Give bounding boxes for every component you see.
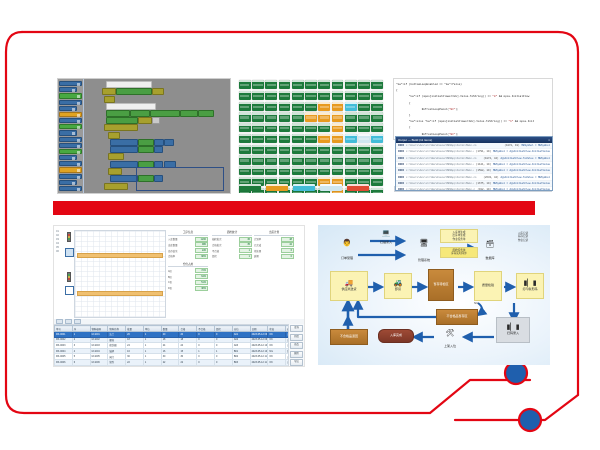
status-light-icon	[67, 272, 71, 282]
grid-cell[interactable]	[371, 112, 383, 121]
flow-node-temp-area: 暂存待检区	[428, 269, 454, 301]
log-message: dgvInitialFlow.ToValue = MESymbol	[500, 157, 550, 160]
grid-cell[interactable]	[292, 166, 304, 175]
stat-row: 合格率98%	[168, 254, 208, 259]
palette-block[interactable]	[59, 106, 77, 111]
stat-label: C区	[168, 280, 194, 284]
stat-group-title: 出货计划	[254, 230, 294, 236]
table-cell[interactable]: 0	[215, 365, 233, 367]
grid-cell[interactable]	[358, 166, 370, 175]
log-tag: INFO	[398, 163, 404, 166]
block[interactable]	[198, 110, 214, 117]
grid-cell[interactable]	[305, 155, 317, 164]
grid-cell[interactable]	[332, 166, 344, 175]
block[interactable]	[130, 110, 150, 117]
grid-cell[interactable]	[279, 91, 291, 100]
block[interactable]	[108, 168, 122, 175]
table-cell[interactable]: 40	[161, 365, 179, 367]
side-action-button[interactable]: 导出	[290, 359, 303, 366]
palette-block[interactable]	[59, 167, 82, 172]
grid-cell[interactable]	[371, 80, 383, 89]
grid-cell[interactable]	[265, 166, 277, 175]
grid-cell[interactable]	[265, 102, 277, 111]
stat-group: 质检统计抽检批次36合格批次35不合格1复检1	[212, 230, 252, 259]
palette-block[interactable]	[59, 87, 77, 92]
block[interactable]	[104, 96, 115, 103]
block[interactable]	[110, 175, 138, 182]
node-icon[interactable]	[65, 286, 74, 295]
data-table-area[interactable]: 单号序物料编码物料名称批量单位数量合格不合格复检仓位日期状态备注 RK-0001…	[54, 319, 304, 366]
legend-swatch	[266, 184, 288, 191]
palette-block[interactable]	[59, 93, 82, 98]
grid-cell[interactable]	[305, 80, 317, 89]
callout-top: 入库单生成 出库单生成 作业任务单	[440, 229, 478, 243]
shelving-icon: 🛠	[446, 330, 455, 338]
table-cell[interactable]: RK-0007	[55, 365, 73, 367]
block[interactable]	[106, 110, 130, 117]
stat-row: 不合格1	[212, 248, 252, 253]
grid-cell[interactable]	[239, 123, 251, 132]
grid-cell[interactable]	[345, 102, 357, 111]
red-divider-banner	[53, 201, 535, 215]
block[interactable]	[110, 146, 138, 153]
blocks-editor-panel[interactable]	[57, 78, 231, 194]
grid-cell[interactable]	[318, 102, 330, 111]
spreadsheet-panel[interactable]: 010203040506 工序信息入库数量1200出库数量980库存结余220合…	[53, 225, 305, 367]
grid-cell[interactable]	[239, 155, 251, 164]
log-tag: INFO	[398, 150, 404, 153]
callout-right: 入库记录 库存记录 作业记录	[508, 231, 538, 243]
decision-label: NG	[474, 301, 479, 305]
stat-label: 延期	[254, 254, 280, 258]
stat-label: 待处理	[254, 249, 280, 253]
grid-cell[interactable]	[265, 80, 277, 89]
stat-row: 复检1	[212, 254, 252, 259]
log-line-number: (1874, 44)	[483, 157, 498, 160]
palette-block[interactable]	[59, 137, 82, 142]
stat-value: 64%	[195, 274, 208, 279]
log-row[interactable]: INFOc:\Users\dev\src\Warehouse\MESApp\Fo…	[396, 187, 552, 191]
code-line: "kw">else "kw">if (mpos[initialFlowerIdx…	[396, 119, 550, 125]
palette-block[interactable]	[59, 130, 77, 135]
flow-node-scan-entry: 💻 扫描录入	[372, 227, 400, 245]
grid-cell[interactable]	[305, 102, 317, 111]
block[interactable]	[150, 110, 180, 117]
stat-group-title: 仓位占用	[168, 262, 208, 268]
table-cell[interactable]: 7	[72, 365, 90, 367]
grid-cell[interactable]	[265, 134, 277, 143]
grid-cell[interactable]	[292, 112, 304, 121]
stat-value: 6	[281, 248, 294, 253]
stat-label: 已完成	[254, 243, 280, 247]
log-path: c:\Users\dev\src\Warehouse\MESApp\Forms\…	[406, 176, 481, 179]
grid-cell[interactable]	[358, 123, 370, 132]
flow-node-shelving: 🛠 上架入位	[434, 323, 466, 349]
legend-swatch	[293, 184, 315, 191]
grid-cell[interactable]	[305, 91, 317, 100]
grid-cell[interactable]	[332, 134, 344, 143]
grid-cell[interactable]	[345, 166, 357, 175]
grid-cell[interactable]	[292, 102, 304, 111]
legend-swatch	[347, 184, 369, 191]
grid-cell[interactable]	[358, 155, 370, 164]
flow-node-print-barcode: ▮▏▮ 打印条形码	[516, 273, 544, 299]
grid-cell[interactable]	[358, 102, 370, 111]
table-cell[interactable]: 0	[197, 365, 215, 367]
stat-column: 出货计划计划单48已完成42待处理6延期0	[254, 230, 294, 262]
flow-node-order: 👨 订单受理	[330, 231, 364, 261]
palette-block[interactable]	[59, 155, 77, 160]
palette-block[interactable]	[59, 149, 82, 154]
palette-block[interactable]	[59, 143, 82, 148]
grid-cell[interactable]	[371, 166, 383, 175]
grid-cell[interactable]	[345, 123, 357, 132]
stat-value: 98%	[195, 254, 208, 259]
flow-node-database: 🗃 数据库	[478, 233, 502, 261]
grid-cell[interactable]	[252, 102, 264, 111]
block[interactable]	[104, 183, 128, 190]
stat-row: 待处理6	[254, 248, 294, 253]
grid-cell[interactable]	[239, 102, 251, 111]
grid-cell[interactable]	[332, 155, 344, 164]
grid-cell[interactable]	[358, 134, 370, 143]
table-cell[interactable]: OK	[268, 365, 286, 367]
stat-row: B区64%	[168, 274, 208, 279]
flow-node-inspection: 质量检验	[474, 271, 502, 301]
stat-label: 合格批次	[212, 243, 238, 247]
grid-cell[interactable]	[265, 155, 277, 164]
palette-block[interactable]	[59, 161, 82, 166]
grid-cell[interactable]	[305, 134, 317, 143]
side-action-button[interactable]: 删除	[290, 351, 303, 358]
cell-grid[interactable]	[239, 80, 383, 193]
stat-group: 仓位占用A区72%B区64%C区51%D区38%	[168, 262, 208, 291]
table-side-buttons[interactable]: 查询新增修改删除导出刷新关闭	[288, 324, 304, 366]
palette-block[interactable]	[59, 112, 82, 117]
stat-row: 延期0	[254, 254, 294, 259]
palette-block[interactable]	[59, 118, 82, 123]
table-row[interactable]: RK-00077M-1007垫片401404000C012023-05-12 1…	[55, 365, 304, 367]
block[interactable]	[180, 110, 198, 117]
flow-node-system: 🖥 管理系统	[408, 229, 440, 263]
grid-cell[interactable]	[252, 91, 264, 100]
grid-cell[interactable]	[345, 155, 357, 164]
stat-value: 36	[239, 237, 252, 242]
grid-cell[interactable]	[252, 145, 264, 154]
side-action-button[interactable]: 修改	[290, 342, 303, 349]
side-action-button[interactable]: 新增	[290, 334, 303, 341]
toolbar-button[interactable]	[65, 319, 72, 325]
grid-cell[interactable]	[318, 123, 330, 132]
grid-cell[interactable]	[279, 123, 291, 132]
block[interactable]	[154, 146, 163, 153]
block[interactable]	[138, 146, 154, 153]
grid-cell[interactable]	[252, 155, 264, 164]
code-and-log-panel[interactable]: "kw">if (bottomLoopEnabled == "kw">false…	[393, 78, 553, 193]
grid-cell[interactable]	[345, 80, 357, 89]
block[interactable]	[106, 81, 152, 88]
grid-cell[interactable]	[265, 112, 277, 121]
grid-cell[interactable]	[371, 145, 383, 154]
flow-node-complete: 入库完成	[378, 329, 414, 343]
status-light-icon	[67, 232, 71, 242]
grid-cell[interactable]	[371, 102, 383, 111]
log-message: MESymbol = dgvInitialFlow.InitialValue	[493, 150, 550, 153]
grid-cell[interactable]	[239, 145, 251, 154]
table-cell[interactable]: 垫片	[108, 365, 126, 367]
grid-cell[interactable]	[292, 155, 304, 164]
stat-group-title: 质检统计	[212, 230, 252, 236]
block[interactable]	[110, 161, 138, 168]
grid-cell[interactable]	[279, 102, 291, 111]
grid-cell[interactable]	[239, 166, 251, 175]
grid-cell[interactable]	[371, 134, 383, 143]
stat-row: 库存结余220	[168, 248, 208, 253]
stat-label: 入库数量	[168, 237, 194, 241]
stat-value: 38%	[195, 286, 208, 291]
table-cell[interactable]: 2023-05-12 13:05	[250, 365, 268, 367]
block[interactable]	[108, 132, 120, 139]
block-selection-outline	[136, 167, 224, 191]
gantt-chart-area[interactable]	[74, 230, 166, 318]
palette-block[interactable]	[59, 81, 82, 86]
palette-block[interactable]	[59, 124, 82, 129]
block[interactable]	[164, 139, 174, 146]
grid-cell[interactable]	[332, 102, 344, 111]
grid-cell[interactable]	[371, 155, 383, 164]
close-icon[interactable]: ×	[548, 137, 550, 143]
stat-label: 出库数量	[168, 243, 194, 247]
block[interactable]	[106, 117, 138, 124]
grid-cell[interactable]	[371, 91, 383, 100]
grid-cell[interactable]	[292, 91, 304, 100]
block[interactable]	[106, 103, 156, 110]
log-tag: INFO	[398, 144, 404, 147]
grid-cell[interactable]	[332, 112, 344, 121]
grid-cell[interactable]	[279, 145, 291, 154]
table-cell[interactable]: C01	[232, 365, 250, 367]
log-message: MESymbol = dgvInitialFlow.InitialValue	[493, 188, 550, 191]
table-cell[interactable]: 1	[143, 365, 161, 367]
grid-cell[interactable]	[305, 123, 317, 132]
flow-node-supplier-delivery: 🚚 供应商送货	[330, 271, 368, 301]
grid-cell[interactable]	[345, 112, 357, 121]
block[interactable]	[102, 88, 116, 95]
log-line-number: (2643, 44)	[483, 176, 498, 179]
grid-cell[interactable]	[292, 80, 304, 89]
grid-cell[interactable]	[279, 166, 291, 175]
log-line-number: (1588, 19)	[476, 169, 491, 172]
stat-label: 复检	[212, 254, 238, 258]
grid-cell[interactable]	[318, 155, 330, 164]
stat-row: C区51%	[168, 280, 208, 285]
sheet-upper-area[interactable]: 010203040506 工序信息入库数量1200出库数量980库存结余220合…	[54, 226, 304, 318]
grid-cell[interactable]	[318, 80, 330, 89]
slide-canvas: "kw">if (bottomLoopEnabled == "kw">false…	[0, 0, 600, 450]
block[interactable]	[108, 153, 124, 160]
log-tag: INFO	[398, 157, 404, 160]
palette-block[interactable]	[59, 100, 82, 105]
grid-cell[interactable]	[279, 155, 291, 164]
log-line-number: (1791, 19)	[476, 150, 491, 153]
grid-cell[interactable]	[265, 123, 277, 132]
grid-cell[interactable]	[265, 91, 277, 100]
stat-value: 1	[239, 254, 252, 259]
code-editor[interactable]: "kw">if (bottomLoopEnabled == "kw">false…	[393, 78, 553, 140]
grid-cell[interactable]	[279, 112, 291, 121]
gantt-bar[interactable]	[77, 253, 163, 258]
block[interactable]	[138, 139, 154, 146]
grid-cell[interactable]	[279, 134, 291, 143]
table-cell[interactable]: 40	[126, 365, 144, 367]
stat-label: 计划单	[254, 237, 280, 241]
log-message: MESymbol = dgvInitialFlow.InitialValue	[493, 182, 550, 185]
log-message: MESymbol = dgvInitialFlow.InitialValue	[493, 163, 550, 166]
stat-row: A区72%	[168, 268, 208, 273]
log-path: c:\Users\dev\src\Warehouse\MESApp\Forms\…	[406, 157, 481, 160]
grid-cell[interactable]	[318, 91, 330, 100]
log-line-number: (1675, 19)	[476, 182, 491, 185]
database-icon: 🗃	[486, 241, 495, 249]
stat-value: 51%	[195, 280, 208, 285]
log-tag: INFO	[398, 176, 404, 179]
side-action-button[interactable]: 查询	[290, 325, 303, 332]
block[interactable]	[110, 139, 138, 146]
stat-group-title: 工序信息	[168, 230, 208, 236]
block[interactable]	[154, 139, 164, 146]
stat-column: 工序信息入库数量1200出库数量980库存结余220合格率98%仓位占用A区72…	[168, 230, 208, 294]
log-path: c:\Users\dev\src\Warehouse\MESApp\Forms\…	[406, 182, 474, 185]
log-message: MESymbol = MESymbol	[521, 144, 550, 147]
stat-value: 0	[281, 254, 294, 259]
log-path: c:\Users\dev\src\Warehouse\MESApp\Forms\…	[406, 169, 474, 172]
server-icon: 🖥	[420, 240, 429, 248]
stat-row: 入库数量1200	[168, 237, 208, 242]
grid-cell[interactable]	[318, 134, 330, 143]
grid-cell[interactable]	[252, 123, 264, 132]
stat-row: 出库数量980	[168, 242, 208, 247]
log-line-number: (1121, 19)	[476, 163, 491, 166]
grid-cell[interactable]	[358, 80, 370, 89]
table-body[interactable]: RK-00011M-1001法兰201202000A012023-05-12 0…	[55, 332, 304, 368]
stat-value: 42	[281, 242, 294, 247]
accent-dot-lower	[519, 409, 541, 431]
palette-block[interactable]	[59, 174, 82, 179]
grid-cell[interactable]	[332, 80, 344, 89]
log-line-number: (912, 19)	[477, 188, 491, 191]
grid-cell[interactable]	[239, 134, 251, 143]
records-table[interactable]: 单号序物料编码物料名称批量单位数量合格不合格复检仓位日期状态备注 RK-0001…	[54, 325, 304, 367]
stat-group: 出货计划计划单48已完成42待处理6延期0	[254, 230, 294, 259]
grid-cell[interactable]	[292, 123, 304, 132]
stat-label: 合格率	[168, 254, 194, 258]
log-row-list[interactable]: INFOc:\Users\dev\src\Warehouse\MESApp\Fo…	[396, 143, 552, 191]
flow-node-unload: 🚜 卸货	[384, 273, 412, 299]
grid-cell[interactable]	[358, 91, 370, 100]
grid-cell[interactable]	[279, 80, 291, 89]
block[interactable]	[138, 117, 152, 124]
grid-cell[interactable]	[305, 112, 317, 121]
grid-cell[interactable]	[252, 112, 264, 121]
table-cell[interactable]: M-1007	[90, 365, 108, 367]
grid-cell[interactable]	[345, 91, 357, 100]
grid-cell[interactable]	[358, 112, 370, 121]
stat-value: 1200	[195, 237, 208, 242]
log-title: Output — Build (11 items)	[398, 137, 432, 143]
stat-value: 980	[195, 242, 208, 247]
legend-swatch	[320, 184, 342, 191]
block[interactable]	[152, 88, 164, 95]
grid-cell[interactable]	[239, 80, 251, 89]
grid-cell[interactable]	[332, 145, 344, 154]
stat-value: 48	[281, 237, 294, 242]
grid-cell[interactable]	[332, 123, 344, 132]
grid-cell[interactable]	[318, 112, 330, 121]
node-icon[interactable]	[65, 248, 74, 257]
grid-cell[interactable]	[371, 188, 383, 193]
grid-cell[interactable]	[318, 166, 330, 175]
output-log-window[interactable]: Output — Build (11 items) × INFOc:\Users…	[395, 136, 553, 191]
log-tag: INFO	[398, 169, 404, 172]
cell-status-grid-panel[interactable]	[237, 78, 385, 193]
log-path: c:\Users\dev\src\Warehouse\MESApp\Forms\…	[406, 150, 474, 153]
gantt-bar[interactable]	[77, 291, 163, 296]
grid-cell[interactable]	[305, 145, 317, 154]
log-path: c:\Users\dev\src\Warehouse\MESApp\Forms\…	[406, 188, 475, 191]
block[interactable]	[152, 117, 160, 124]
stat-row: 计划单48	[254, 237, 294, 242]
grid-cell[interactable]	[371, 123, 383, 132]
grid-cell[interactable]	[252, 166, 264, 175]
stat-column: 质检统计抽检批次36合格批次35不合格1复检1	[212, 230, 252, 262]
grid-cell[interactable]	[239, 112, 251, 121]
toolbar-button[interactable]	[74, 319, 81, 325]
logistics-flow-panel: 👨 订单受理 💻 扫描录入 🖥 管理系统 入库单生成 出库单生成 作业任务单 质…	[318, 225, 550, 365]
flow-node-reject-return: 不合格品退回	[330, 329, 368, 345]
grid-cell[interactable]	[305, 166, 317, 175]
palette-block[interactable]	[59, 186, 82, 191]
grid-cell[interactable]	[292, 134, 304, 143]
log-tag: INFO	[398, 188, 404, 191]
grid-cell[interactable]	[252, 80, 264, 89]
log-path: c:\Users\dev\src\Warehouse\MESApp\Forms\…	[406, 163, 474, 166]
grid-cell[interactable]	[332, 91, 344, 100]
table-cell[interactable]: 40	[179, 365, 197, 367]
block[interactable]	[116, 88, 152, 95]
grid-cell[interactable]	[318, 145, 330, 154]
grid-cell[interactable]	[239, 91, 251, 100]
grid-cell[interactable]	[265, 145, 277, 154]
callout-mid: 质检任务单 库存实时同步	[440, 247, 478, 258]
monitor-icon: 💻	[382, 230, 391, 238]
log-message: dgvInitialFlow.ToValue = MESymbol	[500, 176, 550, 179]
blocks-palette[interactable]	[58, 79, 84, 193]
blocks-canvas[interactable]	[84, 79, 230, 193]
grid-cell[interactable]	[358, 145, 370, 154]
stat-group: 工序信息入库数量1200出库数量980库存结余220合格率98%	[168, 230, 208, 259]
grid-cell[interactable]	[345, 145, 357, 154]
toolbar-button[interactable]	[56, 319, 63, 325]
grid-cell[interactable]	[345, 134, 357, 143]
stat-value: 72%	[195, 268, 208, 273]
grid-cell[interactable]	[371, 177, 383, 186]
grid-cell[interactable]	[252, 134, 264, 143]
palette-block[interactable]	[59, 180, 77, 185]
block[interactable]	[104, 124, 138, 131]
stat-label: A区	[168, 269, 194, 273]
grid-cell[interactable]	[292, 145, 304, 154]
stat-label: B区	[168, 275, 194, 279]
